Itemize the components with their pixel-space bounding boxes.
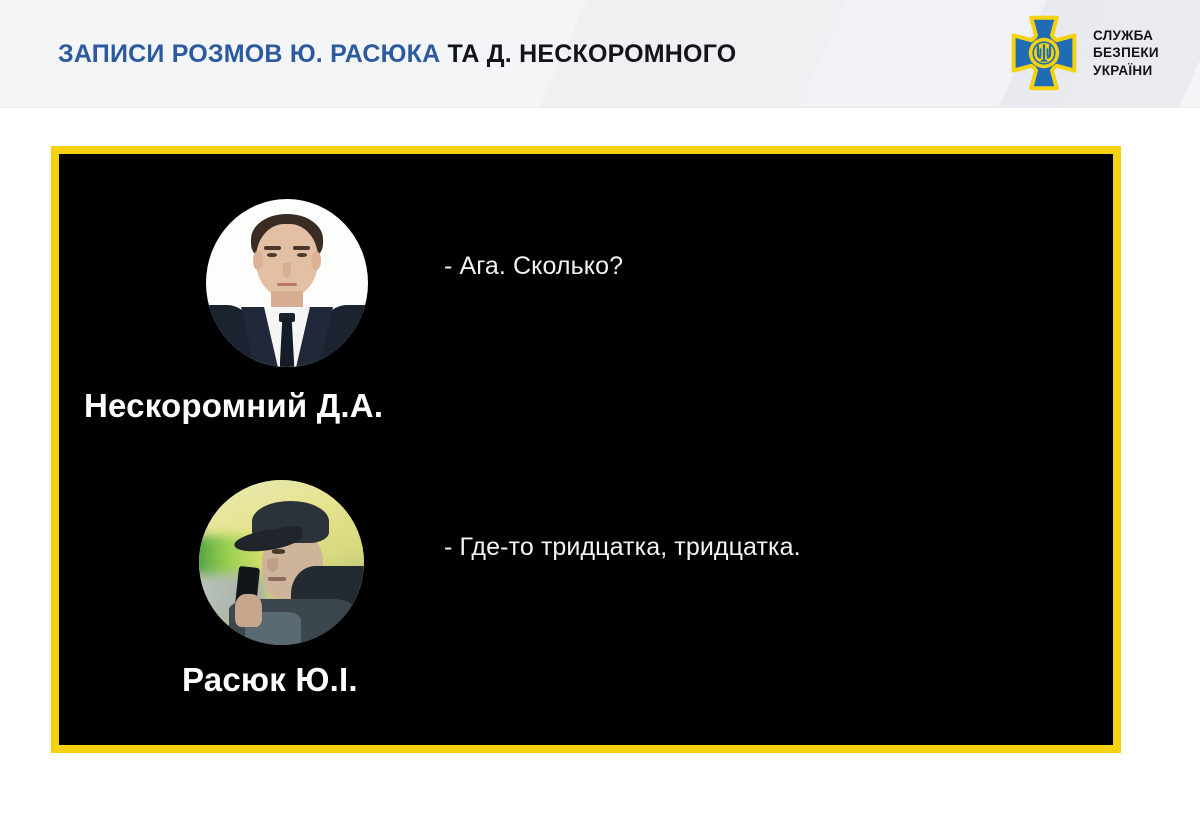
transcript-panel: - Ага. Сколько? Нескоромний Д.А.: [51, 146, 1121, 753]
page-title: ЗАПИСИ РОЗМОВ Ю. РАСЮКА ТА Д. НЕСКОРОМНО…: [58, 42, 736, 67]
transcript-line: - Ага. Сколько?: [444, 252, 623, 281]
page-header: ЗАПИСИ РОЗМОВ Ю. РАСЮКА ТА Д. НЕСКОРОМНО…: [0, 0, 1200, 108]
page-title-primary: ЗАПИСИ РОЗМОВ Ю. РАСЮКА: [58, 40, 440, 68]
sbu-logo-text: СЛУЖБА БЕЗПЕКИ УКРАЇНИ: [1093, 28, 1159, 79]
sbu-logo-line-1: СЛУЖБА: [1093, 28, 1159, 44]
sbu-logo: СЛУЖБА БЕЗПЕКИ УКРАЇНИ: [1004, 12, 1190, 94]
avatar-neskoromnyi: [206, 199, 368, 367]
portrait-suit-photo: [206, 199, 368, 367]
speaker-name: Расюк Ю.І.: [182, 661, 358, 699]
sbu-logo-line-2: БЕЗПЕКИ: [1093, 45, 1159, 61]
speaker-name: Нескоромний Д.А.: [84, 387, 383, 425]
transcript-line: - Где-то тридцатка, тридцатка.: [444, 533, 801, 562]
sbu-logo-line-3: УКРАЇНИ: [1093, 63, 1159, 79]
page-title-secondary: ТА Д. НЕСКОРОМНОГО: [440, 40, 736, 68]
sbu-cross-emblem-icon: [1004, 13, 1084, 93]
header-divider: [0, 107, 1200, 108]
avatar-rasiuk: [199, 480, 364, 645]
portrait-surveillance-photo: [199, 480, 364, 645]
